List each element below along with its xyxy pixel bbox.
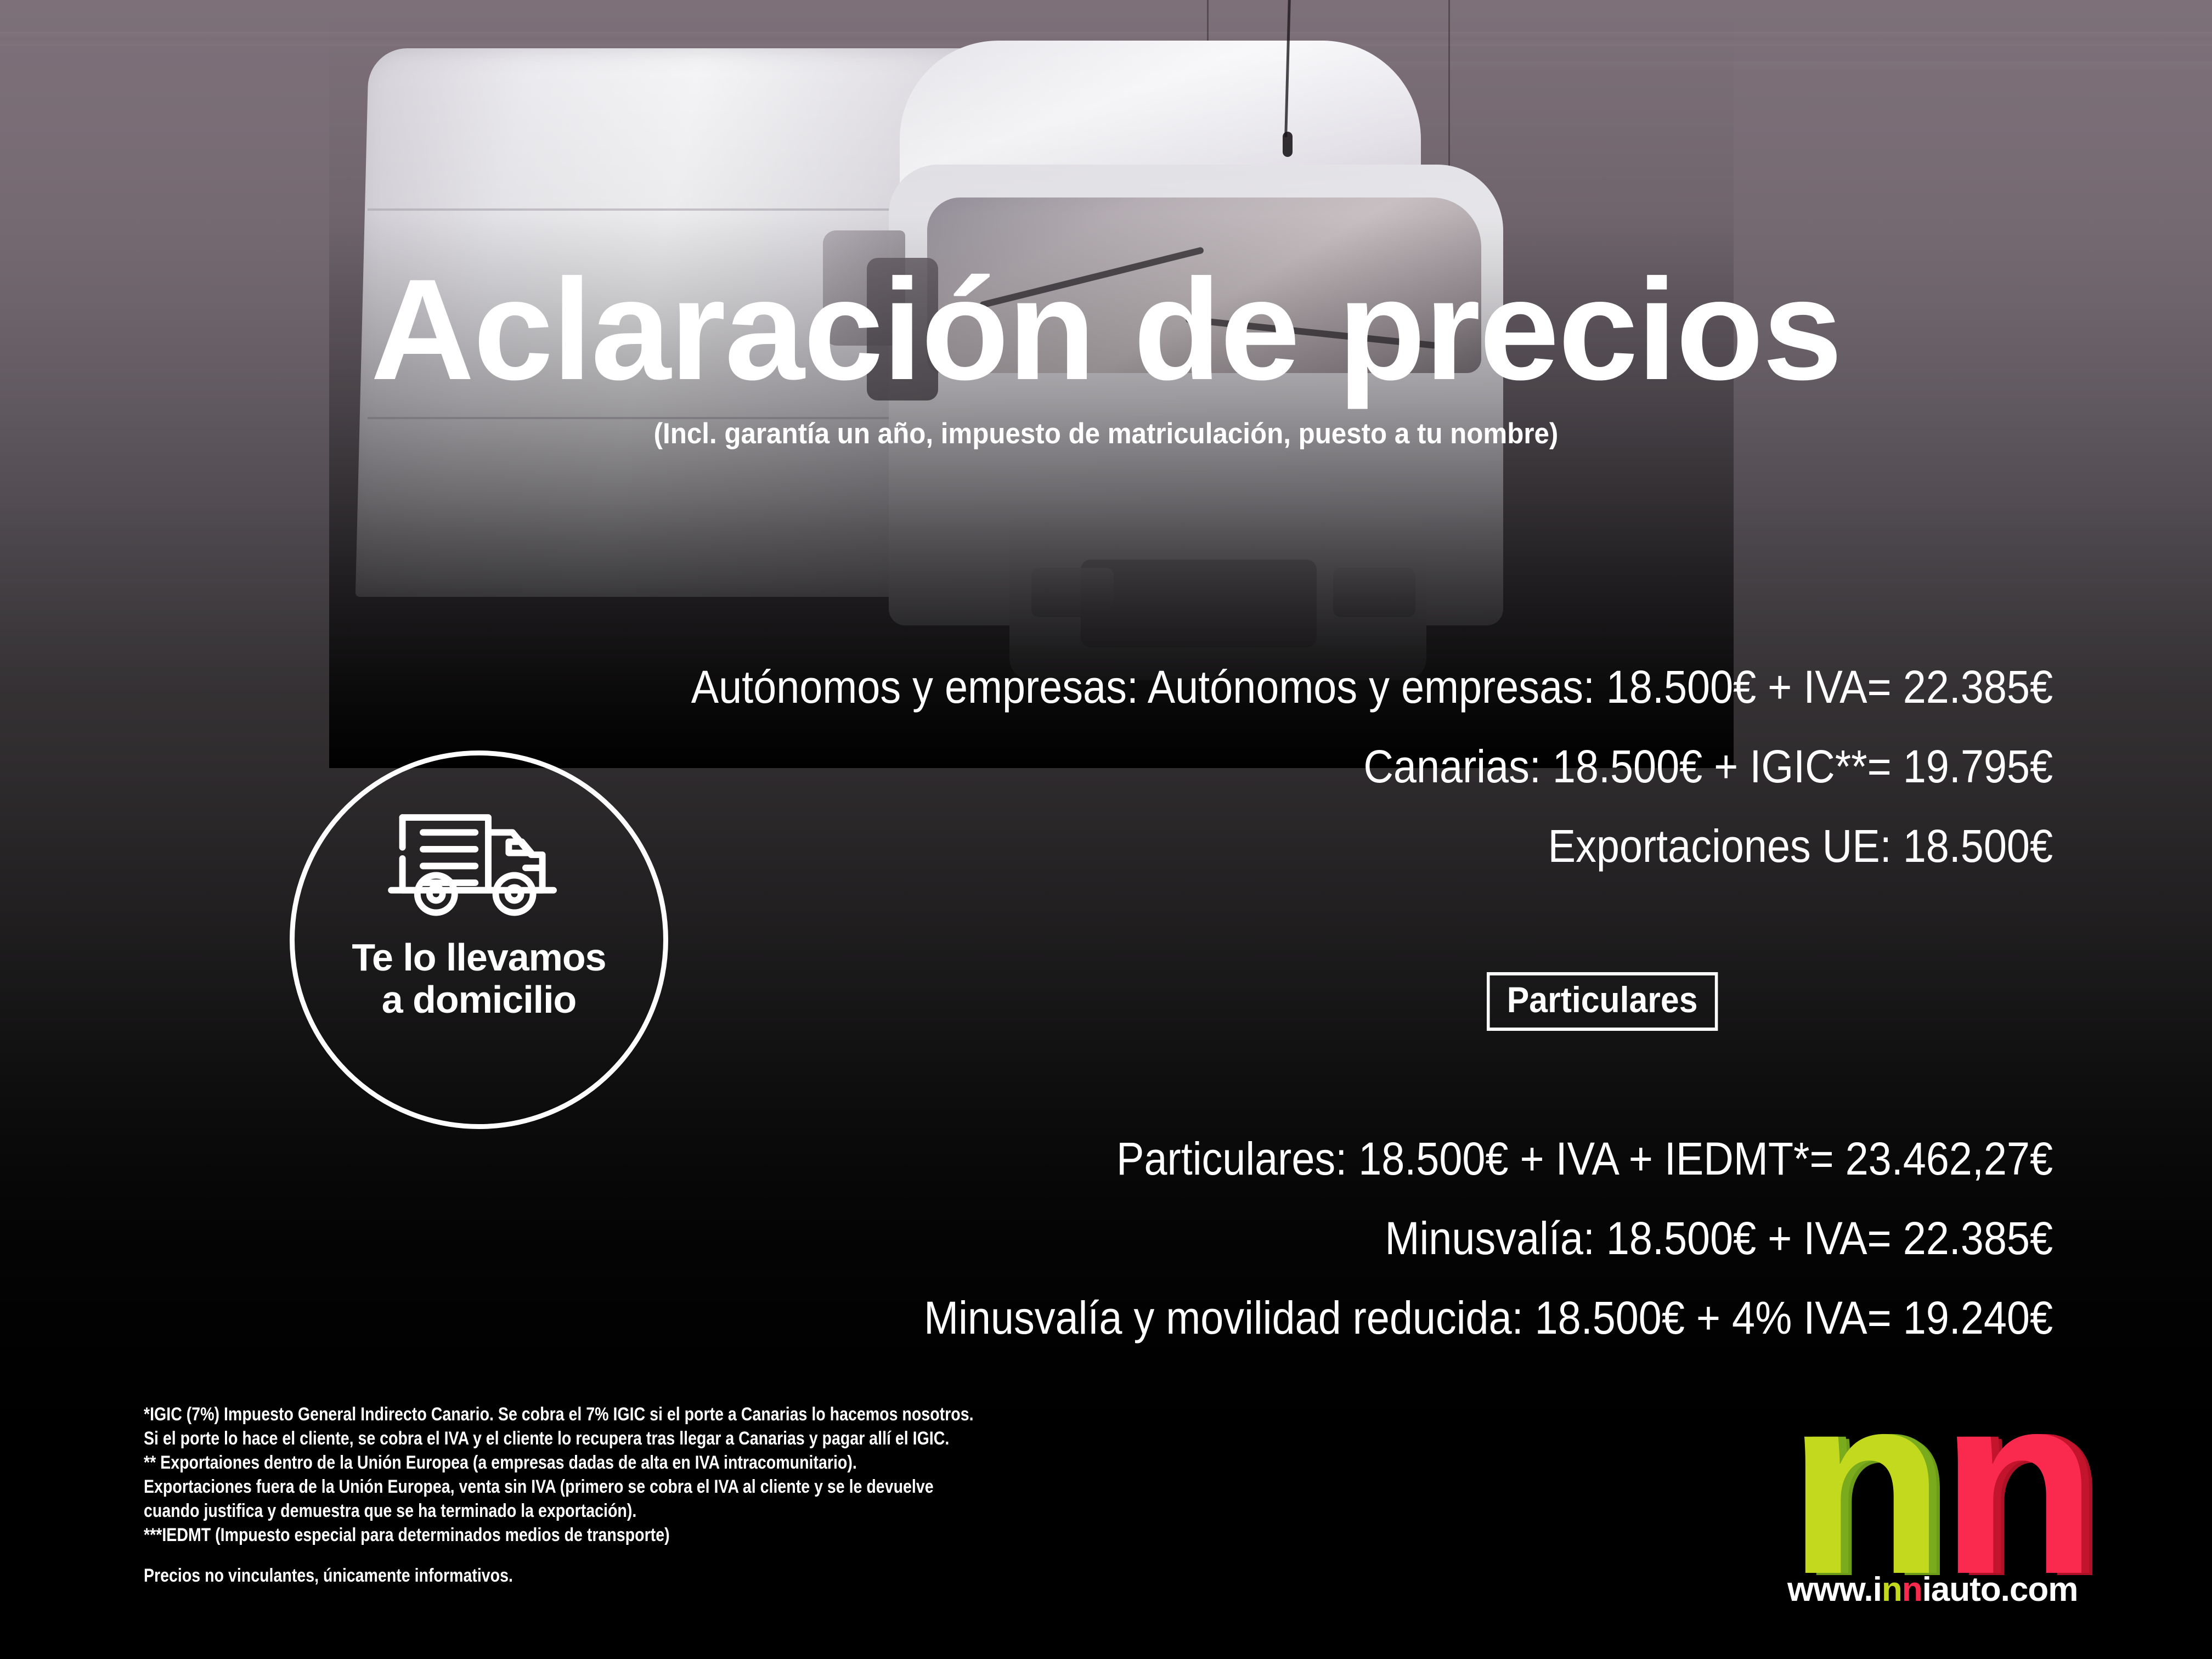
page-subtitle: (Incl. garantía un año, impuesto de matr… <box>77 417 2135 450</box>
price-disclaimer: Precios no vinculantes, únicamente infor… <box>144 1564 974 1588</box>
footnote-line: ***IEDMT (Impuesto especial para determi… <box>144 1523 974 1547</box>
footnote-line: cuando justifica y demuestra que se ha t… <box>144 1499 974 1523</box>
page-title: Aclaración de precios <box>0 258 2212 402</box>
private-price-list: Particulares: 18.500€ + IVA + IEDMT*= 23… <box>0 1119 2053 1358</box>
footnotes-block: *IGIC (7%) Impuesto General Indirecto Ca… <box>144 1402 974 1588</box>
url-n-red: n <box>1902 1571 1922 1609</box>
footnote-line: Si el porte lo hace el cliente, se cobra… <box>144 1426 974 1451</box>
delivery-truck-icon <box>386 798 572 924</box>
badge-line-1: Te lo llevamos <box>352 936 606 979</box>
badge-line-2: a domicilio <box>352 979 606 1021</box>
price-line: Minusvalía y movilidad reducida: 18.500€… <box>205 1278 2053 1358</box>
logo-n-red: n <box>1940 1393 2090 1575</box>
logo-n-green: n <box>1787 1393 1937 1575</box>
section-label-particulares: Particulares <box>1487 972 1718 1031</box>
logo-marks: n n <box>1787 1393 2128 1575</box>
price-line: Minusvalía: 18.500€ + IVA= 22.385€ <box>205 1199 2053 1278</box>
url-n-green: n <box>1882 1571 1902 1609</box>
inniauto-logo[interactable]: n n www.inniauto.com <box>1787 1393 2128 1646</box>
footnote-line: *IGIC (7%) Impuesto General Indirecto Ca… <box>144 1402 974 1426</box>
website-url[interactable]: www.inniauto.com <box>1787 1570 2128 1609</box>
url-prefix: www.i <box>1787 1571 1882 1609</box>
footnote-line: ** Exportaiones dentro de la Unión Europ… <box>144 1451 974 1475</box>
price-clarification-poster: Aclaración de precios (Incl. garantía un… <box>0 0 2212 1659</box>
price-line: Autónomos y empresas: Autónomos y empres… <box>205 647 2053 727</box>
footnote-line: Exportaciones fuera de la Unión Europea,… <box>144 1475 974 1499</box>
footnote-spacer <box>144 1547 974 1564</box>
badge-text: Te lo llevamos a domicilio <box>352 936 606 1021</box>
url-suffix: iauto.com <box>1922 1571 2078 1609</box>
price-line: Particulares: 18.500€ + IVA + IEDMT*= 23… <box>205 1119 2053 1199</box>
business-price-list: Autónomos y empresas: Autónomos y empres… <box>0 647 2053 886</box>
home-delivery-badge: Te lo llevamos a domicilio <box>290 751 668 1129</box>
